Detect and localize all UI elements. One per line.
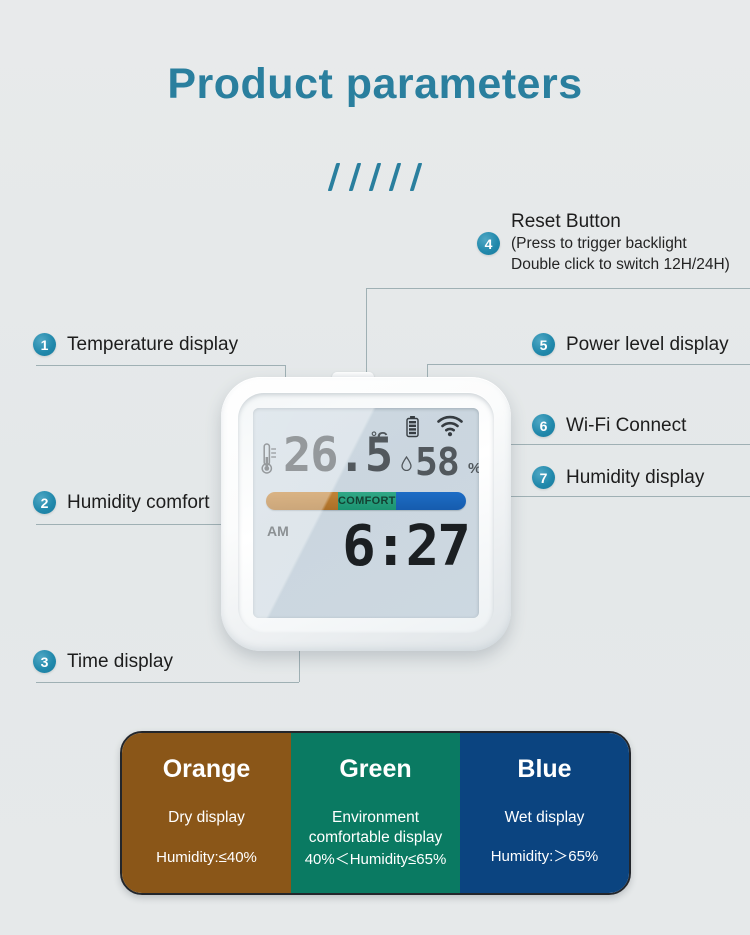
callout-7-humidity-display[interactable]: 7 Humidity display xyxy=(532,466,704,489)
callout-badge: 1 xyxy=(33,333,56,356)
callout-sub-line-1: (Press to trigger backlight xyxy=(511,233,730,254)
callout-2-humidity-comfort[interactable]: 2 Humidity comfort xyxy=(33,491,210,514)
callout-label: Humidity comfort xyxy=(67,491,210,514)
slash-mark xyxy=(389,163,402,191)
page-title: Product parameters xyxy=(0,60,750,109)
comfort-segment-wet xyxy=(396,492,466,510)
callout-badge: 5 xyxy=(532,333,555,356)
lcd-reading-row: 26.5 °C 58 % xyxy=(253,428,479,484)
title-decoration-slashes xyxy=(0,163,750,193)
callout-4-reset-button[interactable]: 4 Reset Button (Press to trigger backlig… xyxy=(477,232,730,275)
callout-label: Temperature display xyxy=(67,333,238,356)
legend-color-name: Green xyxy=(339,755,411,784)
slash-mark xyxy=(328,163,341,191)
callout-badge: 6 xyxy=(532,414,555,437)
leader-line-4-vertical xyxy=(366,288,367,374)
legend-description: Dry display xyxy=(168,808,245,828)
leader-line-1-horizontal xyxy=(36,365,285,366)
leader-line-4-horizontal xyxy=(366,288,750,289)
clock-time: 6:27 xyxy=(253,514,469,579)
color-legend-table: Orange Dry display Humidity:≤40% Green E… xyxy=(120,731,631,895)
infographic-canvas: Product parameters 1 Temperature display… xyxy=(0,0,750,935)
comfort-segment-comfort: COMFORT xyxy=(338,492,396,510)
legend-description: Environment comfortable display xyxy=(309,808,443,848)
legend-color-name: Blue xyxy=(517,755,571,784)
legend-description-line-2: comfortable display xyxy=(309,828,443,848)
callout-label: Wi-Fi Connect xyxy=(566,414,686,437)
callout-badge: 4 xyxy=(477,232,500,255)
legend-range: 40%＜Humidity≤65% xyxy=(305,848,447,869)
water-drop-icon xyxy=(401,456,412,476)
slash-mark xyxy=(369,163,382,191)
leader-line-3-horizontal xyxy=(36,682,299,683)
humidity-unit: % xyxy=(468,460,479,477)
callout-label: Humidity display xyxy=(566,466,704,489)
callout-badge: 2 xyxy=(33,491,56,514)
humidity-value: 58 xyxy=(415,440,459,484)
legend-color-name: Orange xyxy=(163,755,251,784)
humidity-comfort-bar: COMFORT xyxy=(266,492,466,510)
lcd-screen: 26.5 °C 58 % COMFORT AM 6:27 xyxy=(253,408,479,618)
temperature-unit: °C xyxy=(371,429,388,446)
thermometer-hygrometer-device: 26.5 °C 58 % COMFORT AM 6:27 xyxy=(221,377,511,651)
legend-column-orange: Orange Dry display Humidity:≤40% xyxy=(122,733,291,893)
legend-description: Wet display xyxy=(505,808,585,828)
legend-range: Humidity:≤40% xyxy=(156,849,257,866)
callout-5-power-level-display[interactable]: 5 Power level display xyxy=(532,333,729,356)
callout-text-block: Reset Button (Press to trigger backlight… xyxy=(511,210,730,275)
callout-6-wifi-connect[interactable]: 6 Wi-Fi Connect xyxy=(532,414,686,437)
slash-mark xyxy=(348,163,361,191)
comfort-segment-dry xyxy=(266,492,338,510)
callout-sub-line-2: Double click to switch 12H/24H) xyxy=(511,254,730,275)
leader-line-5-horizontal xyxy=(427,364,750,365)
callout-3-time-display[interactable]: 3 Time display xyxy=(33,650,173,673)
callout-badge: 7 xyxy=(532,466,555,489)
callout-badge: 3 xyxy=(33,650,56,673)
callout-label: Power level display xyxy=(566,333,729,356)
callout-label: Time display xyxy=(67,650,173,673)
callout-1-temperature-display[interactable]: 1 Temperature display xyxy=(33,333,238,356)
legend-range: Humidity:＞65% xyxy=(491,845,599,866)
legend-column-green: Green Environment comfortable display 40… xyxy=(291,733,460,893)
legend-column-blue: Blue Wet display Humidity:＞65% xyxy=(460,733,629,893)
slash-mark xyxy=(410,163,423,191)
callout-label: Reset Button xyxy=(511,210,730,233)
legend-description-line-1: Environment xyxy=(309,808,443,828)
thermometer-icon xyxy=(260,443,280,480)
